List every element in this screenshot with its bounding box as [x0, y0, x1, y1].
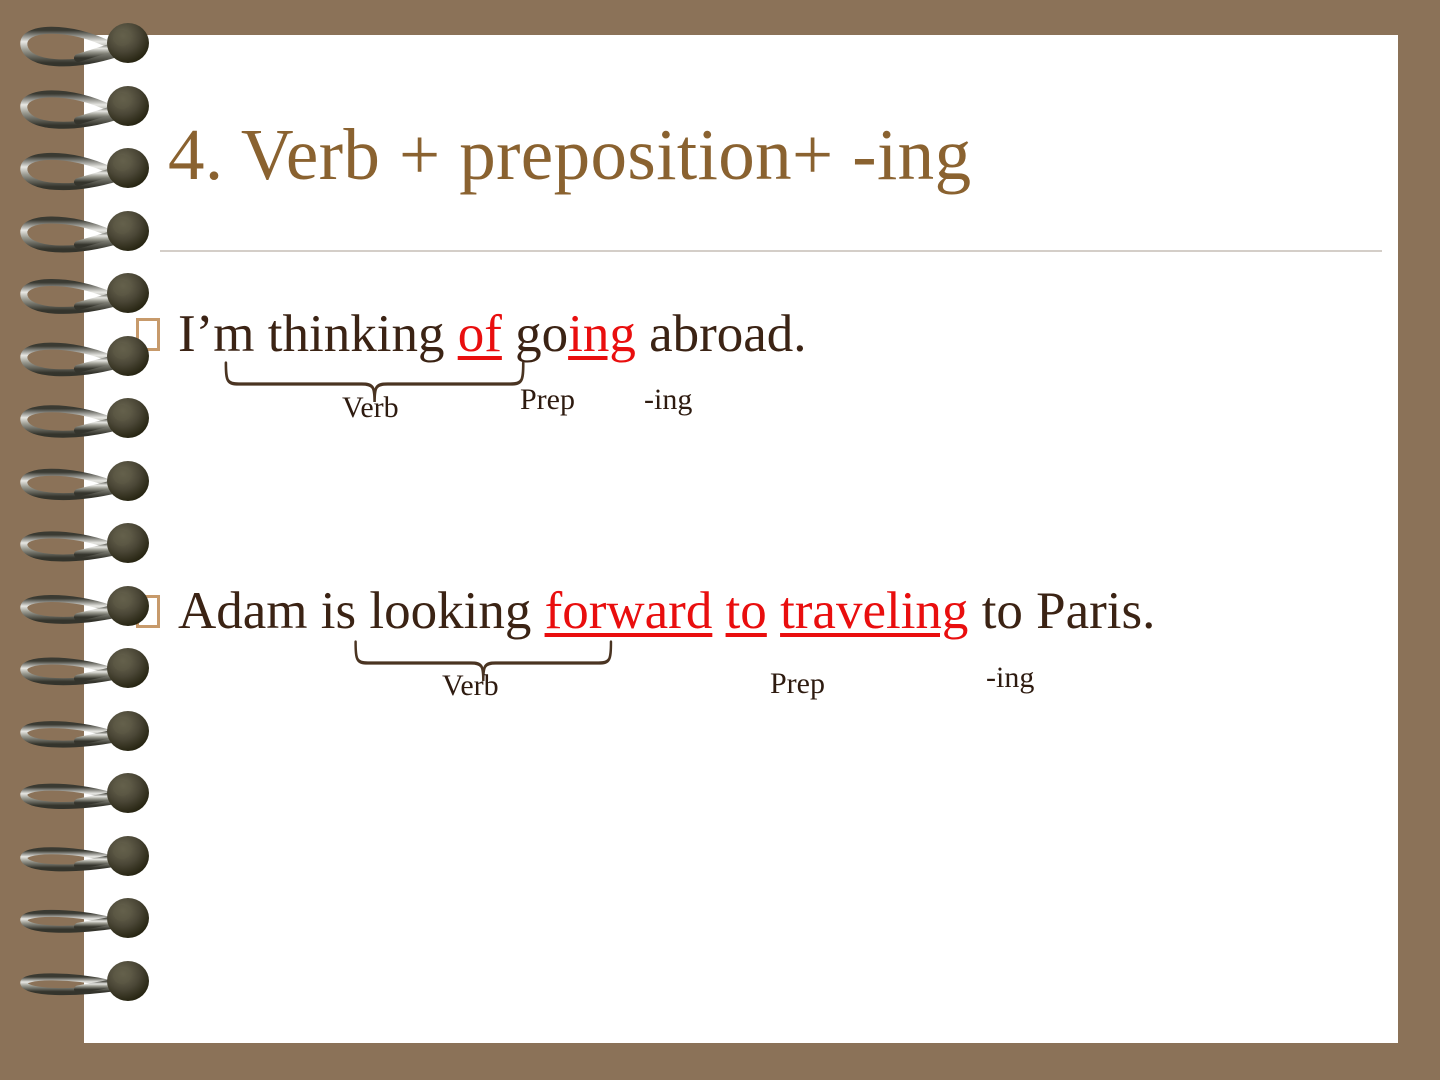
segment-plain: to Paris. — [968, 582, 1155, 640]
bullet-line-1: I’m thinking of going abroad. — [136, 306, 807, 362]
bullet-line-2: Adam is looking forward to traveling to … — [136, 583, 1155, 639]
label-verb-2: Verb — [442, 671, 499, 701]
bullet-block-2: Adam is looking forward to traveling to … — [136, 583, 1155, 639]
title-divider — [160, 250, 1382, 252]
segment-space — [712, 582, 725, 640]
sentence-2: Adam is looking forward to traveling to … — [178, 583, 1155, 639]
label-prep-1: Prep — [520, 385, 575, 415]
segment-plain: I’m thinking — [178, 305, 458, 363]
segment-plain: go — [502, 305, 568, 363]
segment-highlight-ing: ing — [568, 305, 636, 363]
label-verb-1: Verb — [342, 393, 399, 423]
segment-highlight-traveling: traveling — [780, 582, 968, 640]
label-ing-2: -ing — [986, 663, 1034, 693]
label-prep-2: Prep — [770, 669, 825, 699]
sentence-1: I’m thinking of going abroad. — [178, 306, 807, 362]
segment-highlight-to: to — [726, 582, 767, 640]
bullet-square-icon-2 — [136, 595, 160, 628]
segment-highlight-forward: forward — [545, 582, 713, 640]
label-ing-1: -ing — [644, 385, 692, 415]
segment-plain: abroad. — [636, 305, 807, 363]
segment-space — [767, 582, 780, 640]
bullet-block-1: I’m thinking of going abroad. Verb Prep … — [136, 306, 807, 362]
page-title: 4. Verb + preposition+ -ing — [168, 118, 1348, 191]
segment-plain: Adam is looking — [178, 582, 545, 640]
segment-highlight-of: of — [458, 305, 502, 363]
bullet-square-icon-1 — [136, 318, 160, 351]
slide-canvas: 4. Verb + preposition+ -ing I’m thinking… — [0, 0, 1440, 1080]
